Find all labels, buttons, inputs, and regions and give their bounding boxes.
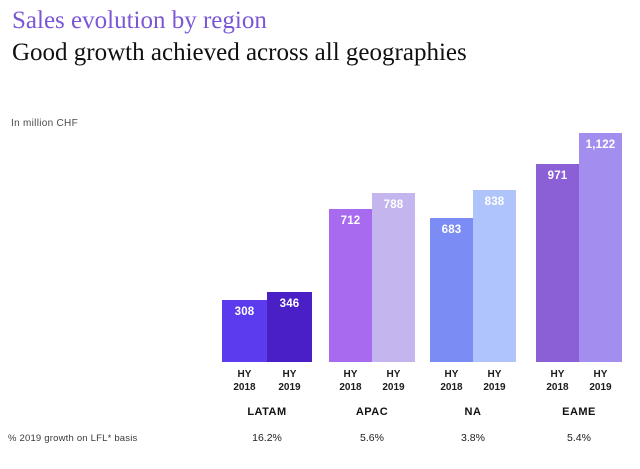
period-line-1: HY [329,368,372,381]
period-label-eame-hy2019: HY 2019 [579,368,622,394]
bar-eame-hy2018: 971 [536,164,579,362]
period-label-latam-hy2018: HY 2018 [222,368,267,394]
bar-value-label: 838 [473,196,516,208]
period-line-1: HY [579,368,622,381]
period-line-1: HY [536,368,579,381]
bar-latam-hy2018: 308 [222,300,267,362]
growth-value-latam: 16.2% [222,432,312,444]
period-label-apac-hy2019: HY 2019 [372,368,415,394]
bar-value-label: 788 [372,199,415,211]
period-line-2: 2018 [329,381,372,394]
period-line-1: HY [222,368,267,381]
bar-apac-hy2018: 712 [329,209,372,362]
period-label-na-hy2018: HY 2018 [430,368,473,394]
growth-value-eame: 5.4% [536,432,622,444]
period-line-2: 2019 [579,381,622,394]
period-line-2: 2018 [536,381,579,394]
period-line-1: HY [267,368,312,381]
period-label-latam-hy2019: HY 2019 [267,368,312,394]
bar-value-label: 308 [222,306,267,318]
period-line-2: 2018 [222,381,267,394]
period-line-1: HY [430,368,473,381]
bar-value-label: 971 [536,170,579,182]
region-label-latam: LATAM [222,406,312,418]
bar-value-label: 346 [267,298,312,310]
period-line-2: 2018 [430,381,473,394]
growth-caption: % 2019 growth on LFL* basis [8,433,138,444]
period-label-eame-hy2018: HY 2018 [536,368,579,394]
region-label-na: NA [430,406,516,418]
growth-value-apac: 5.6% [329,432,415,444]
bar-latam-hy2019: 346 [267,292,312,362]
period-line-2: 2019 [372,381,415,394]
period-line-2: 2019 [473,381,516,394]
period-line-2: 2019 [267,381,312,394]
bar-na-hy2018: 683 [430,218,473,362]
period-line-1: HY [473,368,516,381]
region-label-apac: APAC [329,406,415,418]
bar-na-hy2019: 838 [473,190,516,362]
period-line-1: HY [372,368,415,381]
bar-value-label: 683 [430,224,473,236]
bar-value-label: 1,122 [579,139,622,151]
period-label-na-hy2019: HY 2019 [473,368,516,394]
bar-eame-hy2019: 1,122 [579,133,622,362]
bar-value-label: 712 [329,215,372,227]
bar-chart: 308 346 HY 2018 HY 2019 LATAM 16.2% 712 … [0,0,640,469]
region-label-eame: EAME [536,406,622,418]
bar-apac-hy2019: 788 [372,193,415,362]
growth-value-na: 3.8% [430,432,516,444]
period-label-apac-hy2018: HY 2018 [329,368,372,394]
